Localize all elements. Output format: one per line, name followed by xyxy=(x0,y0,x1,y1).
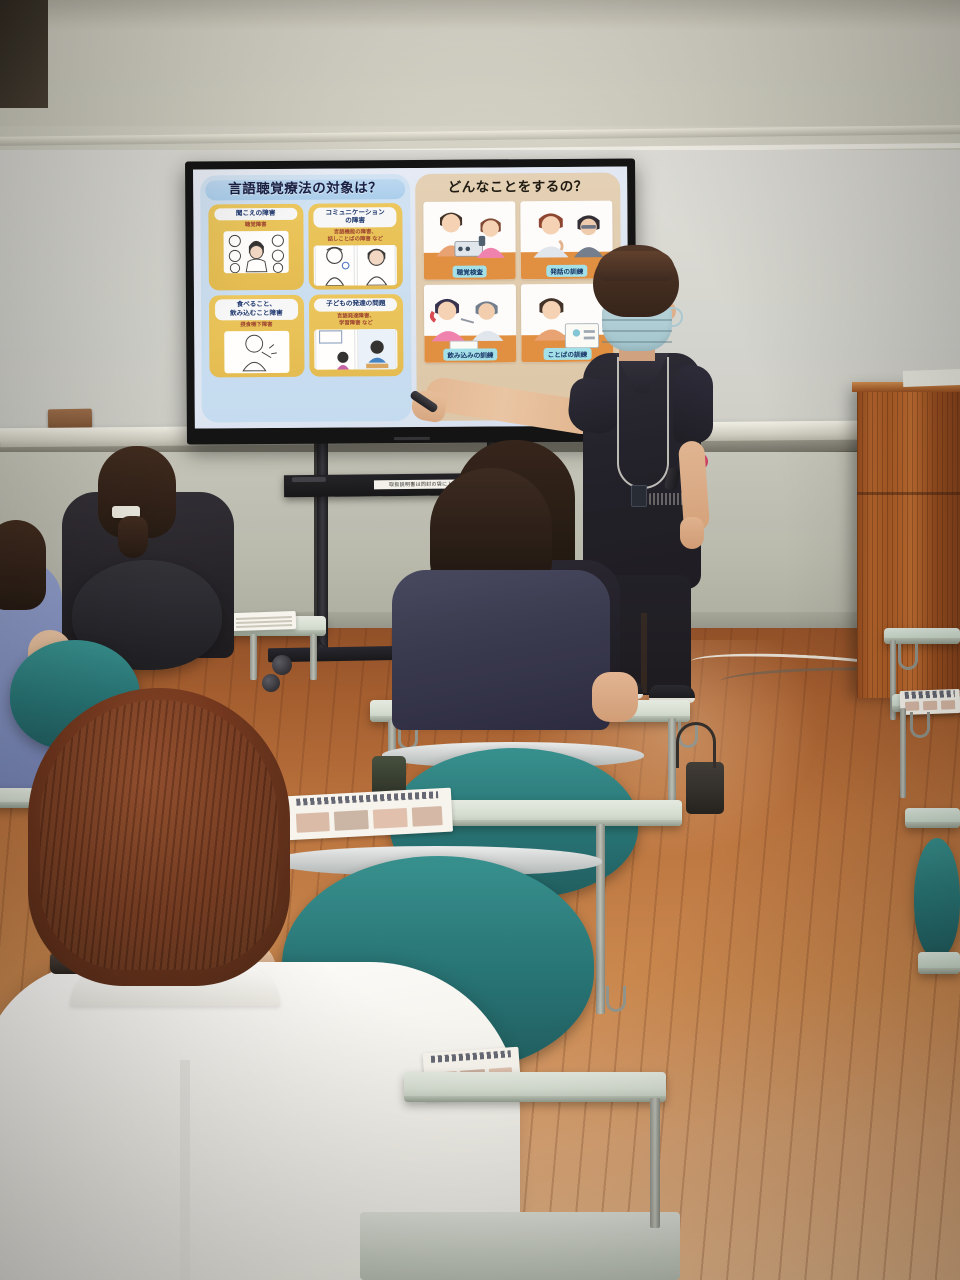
desk-front-near-surface xyxy=(360,1212,680,1280)
illustration-child-studying xyxy=(357,329,397,370)
target-card-communication: コミュニケーションの障害 言語機能の障害、話しことばの障害 など xyxy=(308,203,403,290)
desk-leg xyxy=(310,634,317,680)
presenter-leg-gap xyxy=(641,613,647,693)
desk-hook xyxy=(910,712,930,738)
photo-caption: 飲み込みの訓練 xyxy=(443,348,497,360)
scrub-logo xyxy=(649,493,683,505)
presenter-right-hand xyxy=(680,517,704,549)
doodle-person-a xyxy=(315,245,355,286)
tv-stand-caster xyxy=(272,655,292,675)
attendee-middle-arm xyxy=(592,672,638,722)
card-heading: コミュニケーションの障害 xyxy=(313,207,396,228)
desk-leg xyxy=(596,824,605,1014)
ceiling-fixture xyxy=(0,0,48,108)
card-heading: 子どもの発達の問題 xyxy=(314,298,397,311)
card-subtext: 聴覚障害 xyxy=(245,222,267,229)
target-card-hearing: 聞こえの障害 聴覚障害 xyxy=(208,204,303,291)
card-subtext: 言語発達障害、学習障害 など xyxy=(337,313,375,327)
handout[interactable] xyxy=(232,611,297,631)
foreground-hair-strands xyxy=(40,700,278,970)
desk-right-front xyxy=(905,808,960,828)
left-panel-title: 言語聴覚療法の対象は？ xyxy=(205,179,405,200)
handout-leaflet[interactable] xyxy=(283,788,453,841)
tv-brand-mark xyxy=(394,437,430,440)
card-art-child-development xyxy=(314,329,397,370)
illustration-child-speech xyxy=(315,329,355,370)
lectern-paper xyxy=(903,369,960,387)
attendee-front-left-ponytail xyxy=(118,516,148,558)
bag-strap xyxy=(676,722,716,768)
activity-photo-hearing-test: 聴覚検査 xyxy=(423,201,516,280)
presenter-fringe xyxy=(597,251,675,281)
activity-photo-swallowing-training: 飲み込みの訓練 xyxy=(424,284,517,363)
desk-hook xyxy=(606,986,626,1012)
desk-right-near xyxy=(918,952,960,974)
lectern-seam xyxy=(857,492,960,495)
desk-caster xyxy=(262,674,280,692)
card-heading: 食べること、飲み込むこと障害 xyxy=(215,299,298,320)
chair-right xyxy=(914,838,960,958)
target-card-child-development: 子どもの発達の問題 言語発達障害、学習障害 など xyxy=(308,294,403,376)
desk-leg xyxy=(900,708,906,798)
blouse-pleat xyxy=(180,1060,190,1280)
card-subtext: 摂食嚥下障害 xyxy=(240,322,272,329)
card-art-swallowing xyxy=(224,331,290,373)
desk-leg xyxy=(250,634,257,680)
slide-left-panel: 言語聴覚療法の対象は？ 聞こえの障害 聴覚障害 xyxy=(200,174,412,422)
photo-caption: 聴覚検査 xyxy=(453,265,487,277)
ceiling-shadow xyxy=(0,0,960,30)
card-heading: 聞こえの障害 xyxy=(214,208,297,221)
presenter-right-shoulder xyxy=(673,365,713,443)
right-panel-title: どんなことをするの？ xyxy=(420,178,615,199)
target-card-swallowing: 食べること、飲み込むこと障害 摂食嚥下障害 xyxy=(209,295,304,377)
lanyard xyxy=(617,357,669,489)
desk-leg xyxy=(668,718,676,804)
presenter-left-sleeve xyxy=(566,376,623,435)
card-art-communication xyxy=(314,245,397,286)
remote-control[interactable] xyxy=(292,477,326,482)
card-subtext: 言語機能の障害、話しことばの障害 など xyxy=(328,230,384,244)
attendee-far-left-hair xyxy=(0,520,46,610)
classroom-photo: 取扱説明書は同封の袋に入っています 言語聴覚療法の対象は？ 聞こえの障害 聴覚障… xyxy=(0,0,960,1280)
attendee-middle-body xyxy=(392,570,610,730)
shoulder-bag xyxy=(686,762,724,814)
mask-ear-strap xyxy=(669,307,683,327)
desk-hook xyxy=(898,644,918,670)
id-badge xyxy=(631,485,647,507)
doodle-person-b xyxy=(356,245,396,286)
whiteboard-eraser xyxy=(48,409,92,429)
card-art-hearing xyxy=(223,231,289,273)
desk-front-near xyxy=(404,1072,666,1102)
desk-leg xyxy=(650,1098,660,1228)
target-card-grid: 聞こえの障害 聴覚障害 xyxy=(205,199,406,380)
